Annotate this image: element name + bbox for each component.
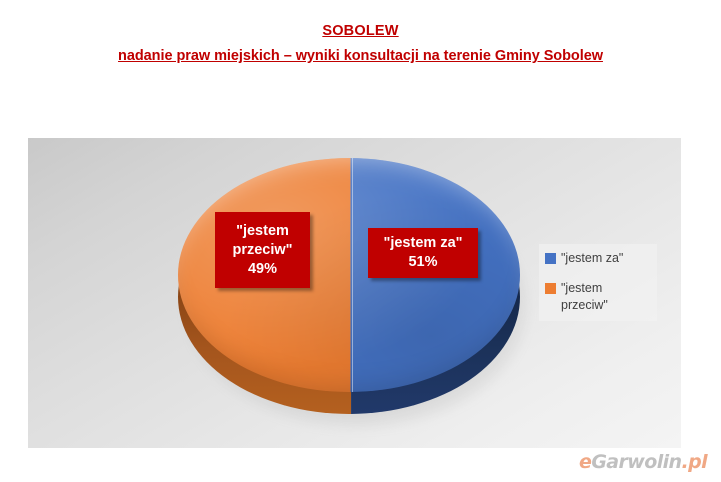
data-label-przeciw-line2: przeciw" bbox=[232, 241, 292, 260]
legend-label-przeciw: "jestem przeciw" bbox=[561, 280, 652, 314]
pie-chart-3d bbox=[178, 146, 524, 431]
legend-swatch-blue-icon bbox=[545, 253, 556, 264]
legend-item-przeciw[interactable]: "jestem przeciw" bbox=[545, 280, 652, 314]
watermark-part-garwolin: Garwolin bbox=[591, 451, 681, 473]
data-label-przeciw-line1: "jestem bbox=[236, 222, 289, 241]
legend-item-za[interactable]: "jestem za" bbox=[545, 250, 652, 267]
page-title-primary: SOBOLEW bbox=[0, 20, 721, 42]
data-label-za-value: 51% bbox=[408, 253, 437, 272]
watermark-part-tld: .pl bbox=[681, 451, 707, 473]
data-label-za[interactable]: "jestem za" 51% bbox=[368, 228, 478, 278]
data-label-za-line1: "jestem za" bbox=[383, 234, 462, 253]
watermark-part-e: e bbox=[579, 451, 591, 473]
data-label-przeciw-value: 49% bbox=[248, 260, 277, 279]
chart-title-block: SOBOLEW nadanie praw miejskich – wyniki … bbox=[0, 20, 721, 67]
pie-slice-divider bbox=[352, 158, 353, 392]
legend-swatch-orange-icon bbox=[545, 283, 556, 294]
watermark-egarwolin: eGarwolin.pl bbox=[579, 451, 707, 473]
chart-legend[interactable]: "jestem za" "jestem przeciw" bbox=[539, 244, 657, 321]
page-title-secondary: nadanie praw miejskich – wyniki konsulta… bbox=[0, 45, 721, 67]
legend-label-za: "jestem za" bbox=[561, 250, 623, 267]
chart-plot-area: "jestem przeciw" 49% "jestem za" 51% "je… bbox=[28, 138, 681, 448]
data-label-przeciw[interactable]: "jestem przeciw" 49% bbox=[215, 212, 310, 288]
